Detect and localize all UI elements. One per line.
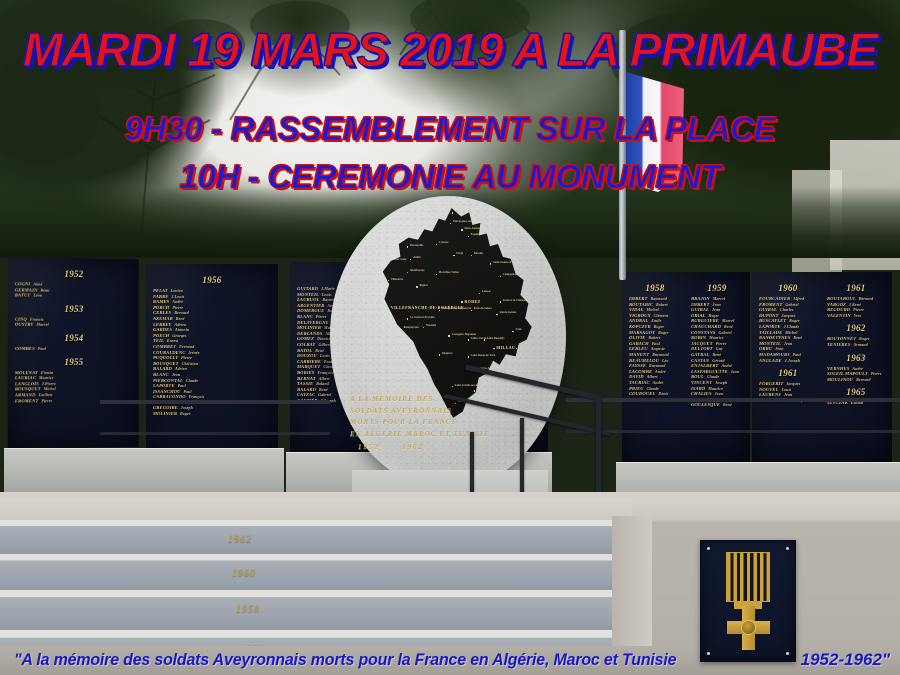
inscription-line: EN ALGERIE MAROC ET TUNISIE (350, 429, 536, 441)
wall-year-heading: 1961 (757, 368, 819, 378)
map-city-dot (439, 354, 440, 355)
wall-year-heading: 1953 (13, 303, 134, 314)
caption-bar: "A la mémoire des soldats Aveyronnais mo… (0, 644, 900, 675)
map-city-dot (493, 242, 494, 243)
wall-year-heading: 1960 (757, 283, 819, 293)
back-railing-left (100, 400, 330, 404)
wall-year-heading: 1963 (825, 353, 887, 363)
wall-year-heading: 1956 (151, 275, 273, 285)
subtitle-line-2: 10H - CEREMONIE AU MONUMENT (0, 153, 900, 201)
stair-step (0, 554, 640, 592)
map-city-label: Pont-de-Salars (474, 307, 492, 310)
memorial-wall-right-2: 1960FOURCADIERAlfredFROMENTGabrielGUIRAL… (752, 272, 892, 462)
step-year-engraving: 1962 (228, 534, 252, 545)
name-surname: OUSTRY (15, 322, 34, 328)
map-city-dot (448, 335, 449, 336)
wall-column: 1952COGNIAiméGERMAINRémiBATUTLéon1953CIN… (13, 263, 134, 449)
map-city-dot (436, 274, 437, 275)
map-city-label: Marcillac-Vallon (439, 271, 459, 274)
memorial-name-entry: TENIERESArmand (825, 342, 887, 348)
wall-year-heading: 1952 (13, 268, 134, 280)
map-city-dot (490, 263, 491, 264)
wall-column: 1959BRAJONMarcelIMBERTJeanGUIRALJeanORIA… (689, 278, 745, 462)
map-city-label: Sévérac-le-Château (503, 299, 526, 302)
map-city-label: Naucelle (426, 324, 436, 327)
map-city-label: Saint-Rome-de-Tarn (471, 354, 496, 357)
map-city-label: Saint-Sernin-sur-Rance (455, 384, 483, 387)
map-city-label: Firmi (456, 252, 463, 255)
map-city-label: Entraygues-sur-Truyère (453, 220, 482, 223)
map-city-dot (474, 390, 475, 391)
wall-year-heading: 1959 (689, 283, 745, 293)
memorial-name-entry: ANGLADEJ.Joseph (757, 358, 819, 364)
poster-subtitle-block: 9H30 - RASSEMBLEMENT SUR LA PLACE 10H - … (0, 105, 900, 201)
map-city-label: Cassagnes-Bégonhès (452, 333, 477, 336)
subtitle-line-1: 9H30 - RASSEMBLEMENT SUR LA PLACE (0, 105, 900, 153)
aveyron-map: VILLEFRANCHE-DE-ROUERGUERODEZMILLAUDecaz… (378, 208, 538, 420)
map-city-label: Laissac (482, 290, 491, 293)
name-given: Jean (775, 346, 783, 352)
map-city-dot (453, 255, 454, 256)
map-city-dot (439, 310, 440, 311)
name-given: J.Joseph (785, 358, 800, 364)
map-city-label: Camarès (477, 388, 488, 391)
map-city-label: Saint-Amans-des-Cots (464, 227, 491, 230)
name-surname: GOULESQUE (691, 402, 720, 408)
wall-column: 1961ROUTABOULBernardVARGOZJ.RenéREGOURDP… (825, 278, 887, 462)
map-city-dot (493, 348, 494, 349)
map-city-label: Cransac (439, 241, 449, 244)
name-given: Yves (854, 313, 862, 319)
inscription-years: 19521962 (350, 442, 536, 454)
name-surname: VALENTIN (827, 313, 851, 319)
wall-base-left (4, 448, 284, 496)
name-given: Roger (180, 411, 191, 417)
wall-columns: 1952COGNIAiméGERMAINRémiBATUTLéon1953CIN… (8, 257, 139, 449)
page-title: MARDI 19 MARS 2019 A LA PRIMAUBE (0, 24, 900, 76)
map-city-dot (500, 301, 501, 302)
map-city-dot (500, 276, 501, 277)
name-surname: MOULINOU (827, 377, 853, 383)
map-city-label: Campagnac (503, 273, 517, 276)
medal-ribbon-icon (726, 552, 770, 602)
inscription-line: MORTS POUR LA FRANCE (350, 417, 536, 429)
wall-year-heading: 1965 (825, 387, 887, 397)
map-city-dot (488, 227, 489, 228)
wall-columns: 1960FOURCADIERAlfredFROMENTGabrielGUIRAL… (752, 272, 892, 462)
name-given: Léon (33, 293, 42, 299)
map-city-label: Rignac (420, 284, 428, 287)
map-city-dot (500, 365, 501, 366)
wall-year-heading: 1961 (825, 283, 887, 293)
memorial-wall-left-1: 1952COGNIAiméGERMAINRémiBATUTLéon1953CIN… (8, 257, 139, 449)
memorial-name-entry: BATUTLéon (13, 293, 134, 300)
wall-year-heading: 1962 (825, 323, 887, 333)
map-city-dot (512, 331, 513, 332)
name-given: Armand (854, 342, 868, 348)
map-city-dot (416, 286, 417, 287)
name-surname: COMBES (15, 346, 35, 352)
name-given: Bernard (856, 377, 870, 383)
map-city-dot (461, 301, 462, 302)
wall-year-heading: 1955 (13, 357, 134, 367)
name-given: André (852, 366, 863, 372)
name-given: Pierre (41, 398, 52, 404)
inscription-line: A LA MEMOIRE DES (350, 394, 536, 406)
map-city-dot (484, 339, 485, 340)
caption-years: 1952-1962" (801, 650, 890, 670)
year-start: 1952 (358, 443, 380, 451)
name-given: Jean (784, 341, 792, 347)
back-railing-left-lower (100, 432, 330, 435)
name-given: René (793, 335, 802, 341)
central-stele: VILLEFRANCHE-DE-ROUERGUERODEZMILLAUDecaz… (330, 196, 566, 486)
memorial-name-entry: COMBESPaul (13, 346, 134, 352)
name-surname: ANGLADE (759, 358, 782, 364)
map-city-label: Saint-Geniez-d'Olt (493, 261, 516, 264)
name-surname: FROMENT (15, 398, 39, 404)
poster-title-block: MARDI 19 MARS 2019 A LA PRIMAUBE (0, 24, 900, 76)
step-year-engraving: 1958 (236, 604, 260, 615)
map-city-dot (471, 255, 472, 256)
map-city-label: Sainte-Geniez (500, 311, 517, 314)
map-city-dot (407, 272, 408, 273)
map-city-dot (400, 329, 401, 330)
memorial-name-entry: VALENTINYves (825, 313, 887, 319)
map-city-dot (468, 356, 469, 357)
map-city-dot (407, 246, 408, 247)
name-given: Roger (709, 313, 720, 319)
name-surname: MOLINIER (153, 411, 177, 417)
name-given: René (723, 402, 732, 408)
map-city-dot (407, 318, 408, 319)
year-end: 1962 (402, 443, 424, 451)
name-given: Pierre (871, 371, 882, 377)
wall-column: 1956PELATLucienFABREJ.LouisRAMESAndréPOR… (151, 270, 273, 454)
map-city-label: Espalion (471, 233, 481, 236)
map-city-label: Nant (516, 328, 522, 331)
stele-inscription: A LA MEMOIRE DES SOLDATS AVEYRONNAIS MOR… (350, 394, 536, 454)
name-surname: TENIERES (827, 342, 851, 348)
map-city-label: Aubin (413, 256, 420, 259)
map-city-dot (496, 314, 497, 315)
map-city-label: Rieupeyroux (404, 326, 419, 329)
name-given: Jean (172, 372, 180, 378)
map-city-label: Montbazens (410, 269, 425, 272)
map-city-label: Saint-Beauzély (487, 337, 505, 340)
map-city-dot (388, 280, 389, 281)
wall-column: 1960FOURCADIERAlfredFROMENTGabrielGUIRAL… (757, 278, 819, 462)
name-given: Pierre (316, 314, 327, 320)
map-city-label: Saint-Chély-d'Aubrac (496, 239, 523, 242)
map-city-dot (423, 327, 424, 328)
map-city-label: La Salvetat-Peyralès (410, 316, 435, 319)
memorial-poster: 1952COGNIAiméGERMAINRémiBATUTLéon1953CIN… (0, 0, 900, 675)
map-city-dot (388, 308, 389, 309)
map-city-label: MILLAU (496, 345, 515, 350)
name-given: Claude (186, 378, 198, 384)
stair-step (0, 590, 640, 632)
name-given: Jean (731, 369, 739, 375)
wall-year-heading: 1954 (13, 333, 134, 343)
map-city-dot (450, 223, 451, 224)
map-city-label: Mur-de-Barrez (455, 210, 473, 213)
map-city-label: Capdenac-Gare (388, 258, 407, 261)
map-city-label: Peyreleau (519, 345, 531, 348)
memorial-name-entry: MOLINIERRoger (151, 411, 273, 417)
name-surname: BATUT (15, 293, 30, 299)
map-city-label: Bozouls (474, 252, 483, 255)
map-city-dot (410, 259, 411, 260)
map-city-dot (461, 229, 462, 230)
memorial-name-entry: MOULINOUBernard (825, 377, 887, 383)
map-city-label: Laguiole (492, 225, 502, 228)
map-city-label: Réquista (442, 352, 453, 355)
map-city-dot (452, 212, 453, 213)
memorial-wall-right-1: 1958IMBERTRaymondBOUTARICRobertVIDALMich… (622, 272, 750, 462)
name-given: Marcel (36, 322, 48, 328)
memorial-wall-left-2: 1956PELATLucienFABREJ.LouisRAMESAndréPOR… (146, 264, 278, 454)
map-city-label: Decazeville (410, 244, 424, 247)
wall-column: 1958IMBERTRaymondBOUTARICRobertVIDALMich… (627, 278, 683, 462)
map-city-dot (436, 244, 437, 245)
wall-columns: 1956PELATLucienFABREJ.LouisRAMESAndréPOR… (146, 264, 278, 454)
map-city-label: La Cavalerie (503, 362, 519, 365)
screw-icon (707, 547, 710, 550)
stair-step (0, 520, 640, 556)
map-city-label: Villeneuve (391, 278, 404, 281)
medal-medallion-icon (741, 620, 756, 635)
map-city-dot (479, 293, 480, 294)
name-given: Ernest (167, 338, 179, 344)
screw-icon (786, 547, 789, 550)
wall-year-heading: 1958 (627, 283, 683, 293)
back-railing-right (566, 398, 900, 402)
wall-columns: 1958IMBERTRaymondBOUTARICRobertVIDALMich… (622, 272, 750, 462)
map-city-dot (468, 339, 469, 340)
map-city-dot (452, 386, 453, 387)
map-city-dot (468, 236, 469, 237)
memorial-name-entry: OUSTRYMarcel (13, 322, 134, 328)
step-year-engraving: 1960 (232, 568, 256, 579)
map-city-dot (384, 261, 385, 262)
memorial-name-entry: GOULESQUERené (689, 402, 745, 408)
map-city-label: Baraqueville-Sauveterre (442, 307, 471, 310)
map-city-label: RODEZ (464, 299, 480, 304)
name-given: Paul (38, 346, 46, 352)
caption-text: "A la mémoire des soldats Aveyronnais mo… (14, 650, 676, 670)
back-railing-right-lower (566, 430, 900, 433)
map-city-dot (516, 348, 517, 349)
